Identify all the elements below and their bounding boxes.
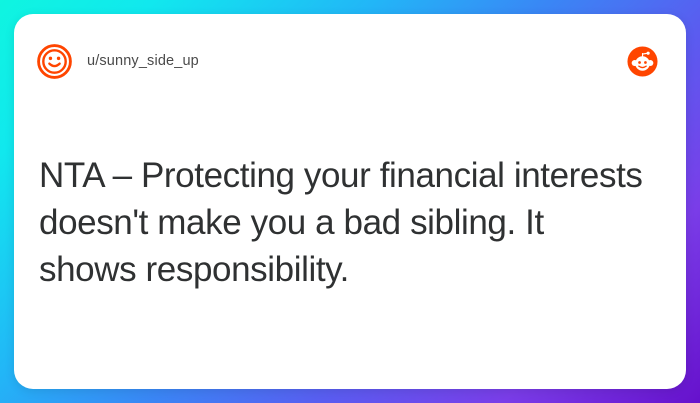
quote-text: NTA – Protecting your financial interest…	[39, 152, 646, 293]
smiley-face-avatar-icon[interactable]	[36, 43, 73, 80]
quote-body: NTA – Protecting your financial interest…	[39, 152, 646, 293]
quote-card: u/sunny_side_up	[14, 14, 686, 389]
card-header: u/sunny_side_up	[14, 14, 686, 108]
username-label: u/sunny_side_up	[87, 53, 199, 69]
gradient-background: u/sunny_side_up	[0, 0, 700, 403]
reddit-snoo-icon[interactable]	[627, 46, 658, 77]
